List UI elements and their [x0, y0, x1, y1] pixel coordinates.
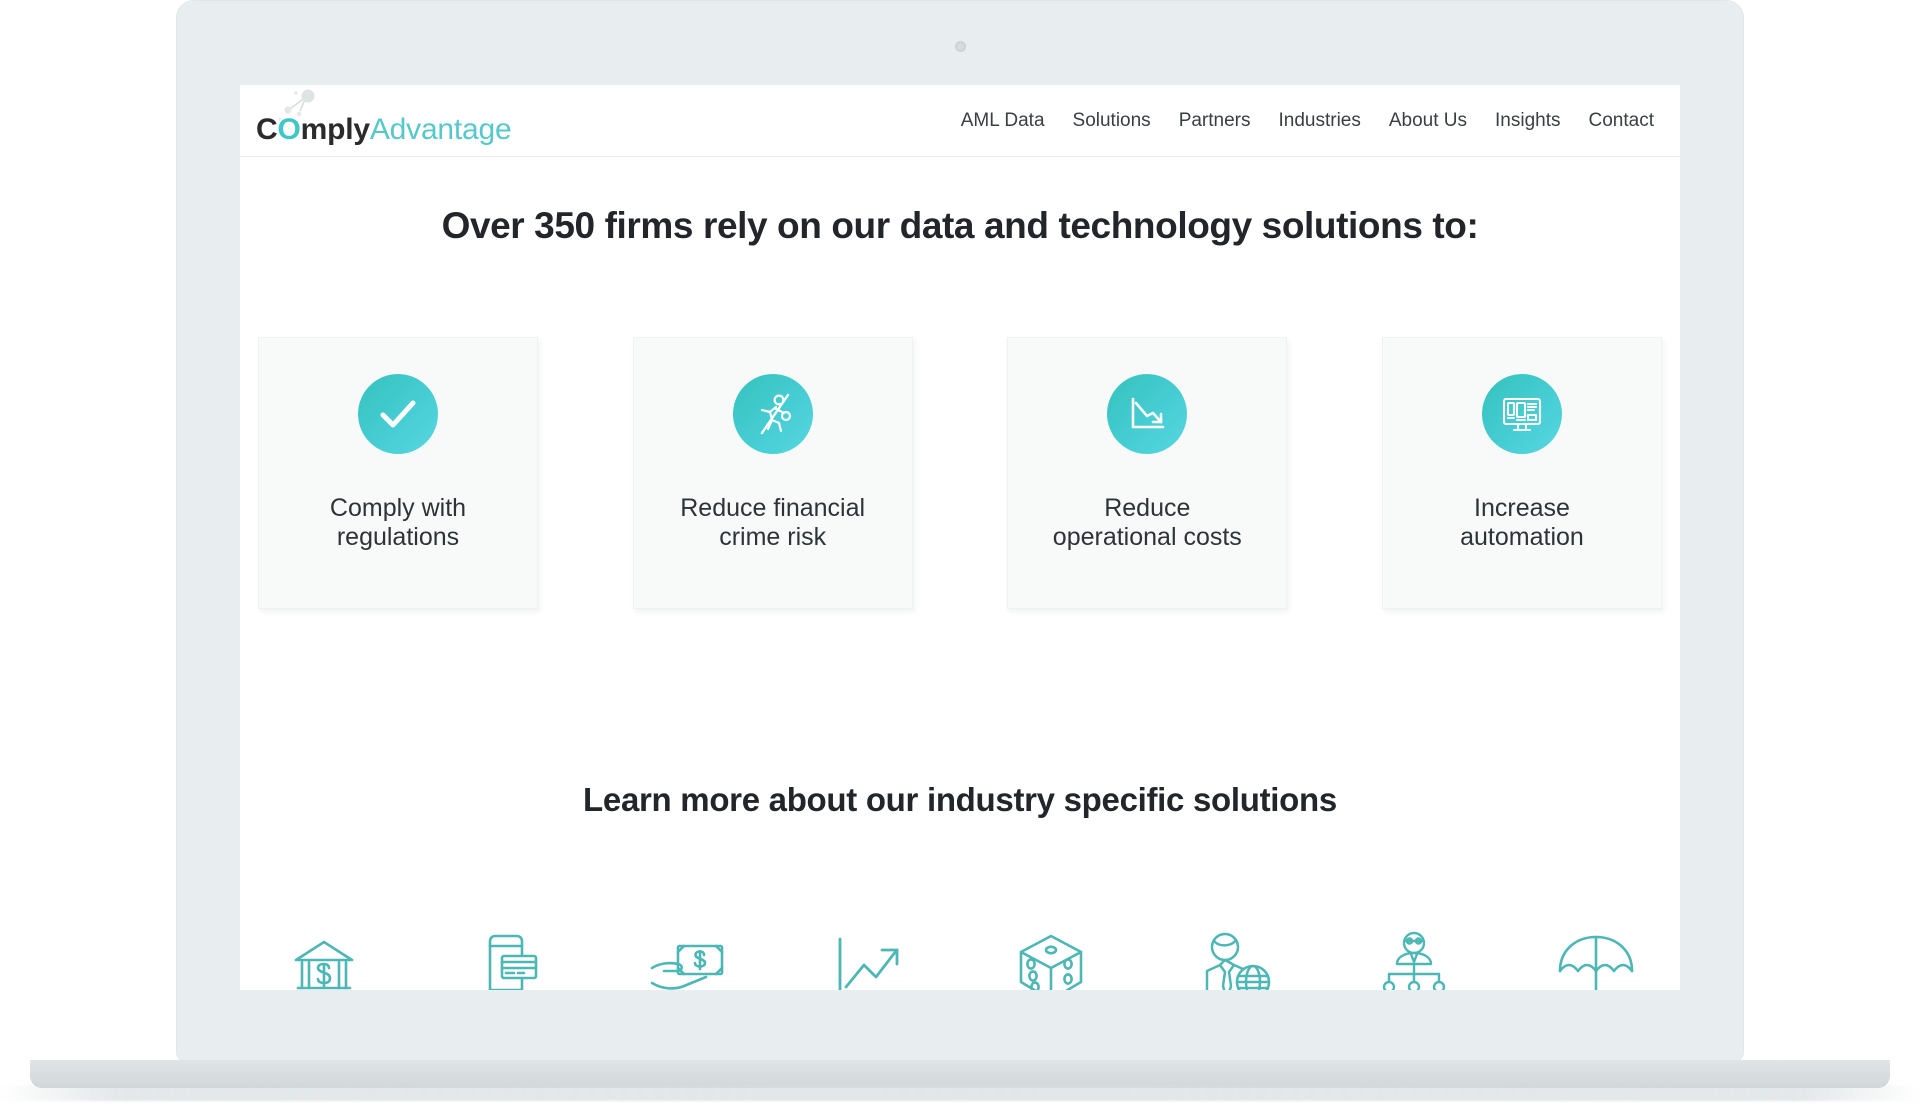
- logo-dots-icon: [274, 89, 334, 123]
- benefit-card-label-line1: Comply with: [330, 494, 466, 522]
- umbrella-icon[interactable]: [1548, 923, 1644, 990]
- person-globe-icon[interactable]: [1185, 923, 1281, 990]
- benefit-card-label-line2: regulations: [337, 523, 459, 551]
- nav-item-aml-data[interactable]: AML Data: [961, 110, 1045, 132]
- site-header: COmplyAdvantage AML Data Solutions Partn…: [240, 85, 1680, 157]
- nav-item-solutions[interactable]: Solutions: [1073, 110, 1151, 132]
- benefit-card-label: Comply with regulations: [320, 494, 476, 551]
- benefit-card-comply-with-regulations[interactable]: Comply with regulations: [258, 337, 538, 609]
- nav-item-about-us[interactable]: About Us: [1389, 110, 1467, 132]
- nav-item-industries[interactable]: Industries: [1279, 110, 1361, 132]
- page-title: Over 350 firms rely on our data and tech…: [240, 205, 1680, 247]
- benefit-card-label-line1: Reduce financial: [680, 494, 865, 522]
- main-navigation: AML Data Solutions Partners Industries A…: [961, 110, 1654, 132]
- benefit-card-label: Reduce financial crime risk: [670, 494, 875, 551]
- chart-decreasing-icon: [1107, 374, 1187, 454]
- industry-icons-row: [240, 917, 1680, 990]
- section-title-industries: Learn more about our industry specific s…: [240, 781, 1680, 819]
- mobile-payment-card-icon[interactable]: [458, 923, 554, 990]
- benefit-card-label-line2: operational costs: [1053, 523, 1242, 551]
- benefit-card-label: Increase automation: [1450, 494, 1594, 551]
- benefit-card-label: Reduce operational costs: [1043, 494, 1252, 551]
- dice-icon[interactable]: [1003, 923, 1099, 990]
- no-crime-running-thief-icon: [733, 374, 813, 454]
- benefit-card-label-line2: crime risk: [719, 523, 826, 551]
- laptop-base: [30, 1060, 1890, 1088]
- benefit-card-reduce-operational-costs[interactable]: Reduce operational costs: [1007, 337, 1287, 609]
- logo-advantage: Advantage: [370, 113, 512, 146]
- desktop-dashboard-icon: [1482, 374, 1562, 454]
- bank-dollar-icon[interactable]: [276, 923, 372, 990]
- nav-item-partners[interactable]: Partners: [1179, 110, 1251, 132]
- brand-logo[interactable]: COmplyAdvantage: [256, 91, 512, 151]
- hand-cash-icon[interactable]: [639, 923, 735, 990]
- nav-item-insights[interactable]: Insights: [1495, 110, 1560, 132]
- benefit-card-label-line1: Increase: [1474, 494, 1570, 522]
- laptop-webcam-icon: [955, 41, 966, 52]
- benefit-cards-row: Comply with regulations: [240, 337, 1680, 609]
- chart-increasing-icon[interactable]: [821, 923, 917, 990]
- benefit-card-reduce-financial-crime-risk[interactable]: Reduce financial crime risk: [633, 337, 913, 609]
- browser-screen: COmplyAdvantage AML Data Solutions Partn…: [240, 85, 1680, 990]
- benefit-card-label-line1: Reduce: [1104, 494, 1190, 522]
- nav-item-contact[interactable]: Contact: [1589, 110, 1654, 132]
- laptop-shadow: [0, 1085, 1920, 1101]
- benefit-card-label-line2: automation: [1460, 523, 1584, 551]
- checkmark-icon: [358, 374, 438, 454]
- org-chart-icon[interactable]: [1366, 923, 1462, 990]
- benefit-card-increase-automation[interactable]: Increase automation: [1382, 337, 1662, 609]
- laptop-mockup: COmplyAdvantage AML Data Solutions Partn…: [0, 0, 1920, 1105]
